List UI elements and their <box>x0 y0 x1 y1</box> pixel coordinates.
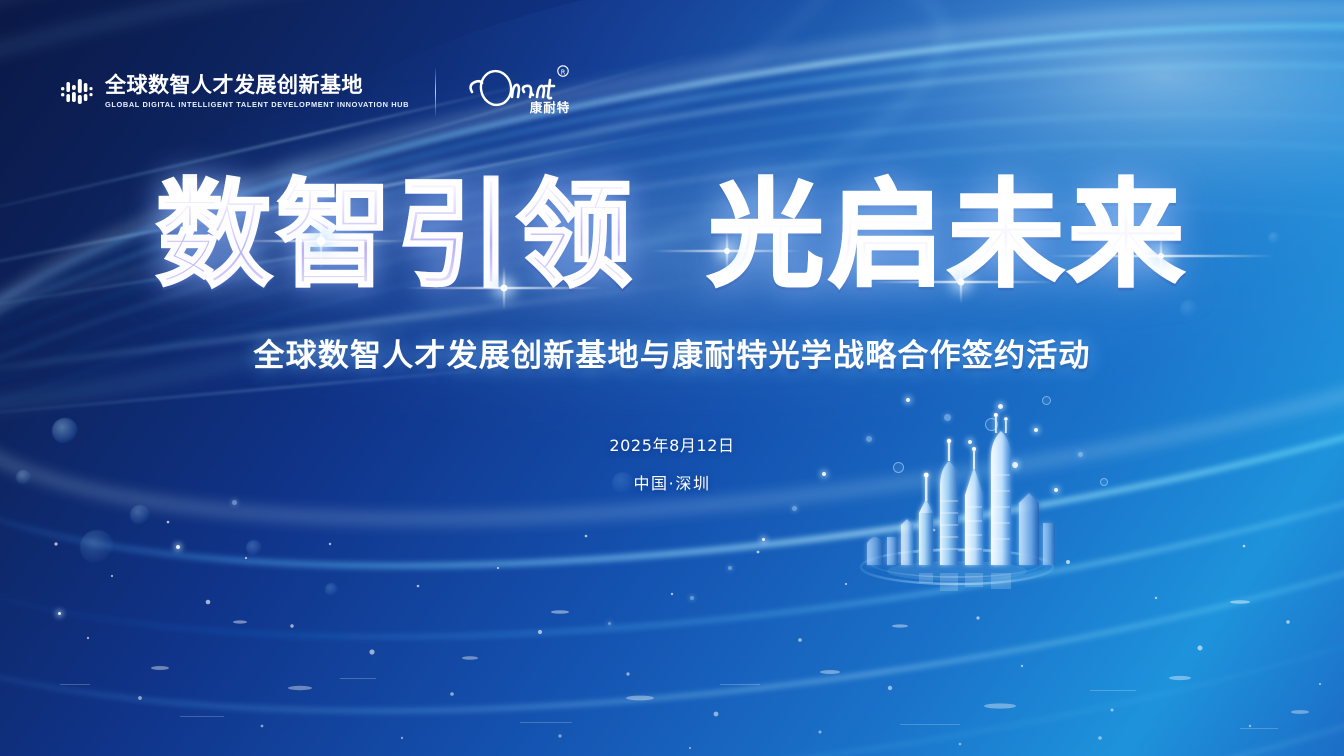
brand-name-cn: 全球数智人才发展创新基地 <box>105 74 409 98</box>
brand-conant[interactable]: R 康耐特 <box>462 62 577 122</box>
city-skyline-illustration <box>845 395 1070 600</box>
header-divider <box>435 68 436 116</box>
brand-global-hub[interactable]: 全球数智人才发展创新基地 GLOBAL DIGITAL INTELLIGENT … <box>60 74 409 109</box>
main-title: 数智引领 光启未来 <box>0 178 1344 294</box>
header-logos: 全球数智人才发展创新基地 GLOBAL DIGITAL INTELLIGENT … <box>60 66 577 118</box>
equalizer-dot-mark-icon <box>60 76 94 108</box>
title-part-1: 数智引领 <box>156 178 636 294</box>
event-date: 2025年8月12日 <box>0 432 1344 456</box>
event-key-visual: 全球数智人才发展创新基地 GLOBAL DIGITAL INTELLIGENT … <box>0 0 1344 756</box>
svg-text:R: R <box>561 68 566 76</box>
event-meta: 2025年8月12日 中国·深圳 <box>0 432 1344 494</box>
svg-text:康耐特: 康耐特 <box>530 100 571 115</box>
event-subtitle: 全球数智人才发展创新基地与康耐特光学战略合作签约活动 <box>0 330 1344 375</box>
event-location: 中国·深圳 <box>0 470 1344 494</box>
title-part-2: 光启未来 <box>708 178 1188 294</box>
brand-name-en: GLOBAL DIGITAL INTELLIGENT TALENT DEVELO… <box>105 101 409 110</box>
